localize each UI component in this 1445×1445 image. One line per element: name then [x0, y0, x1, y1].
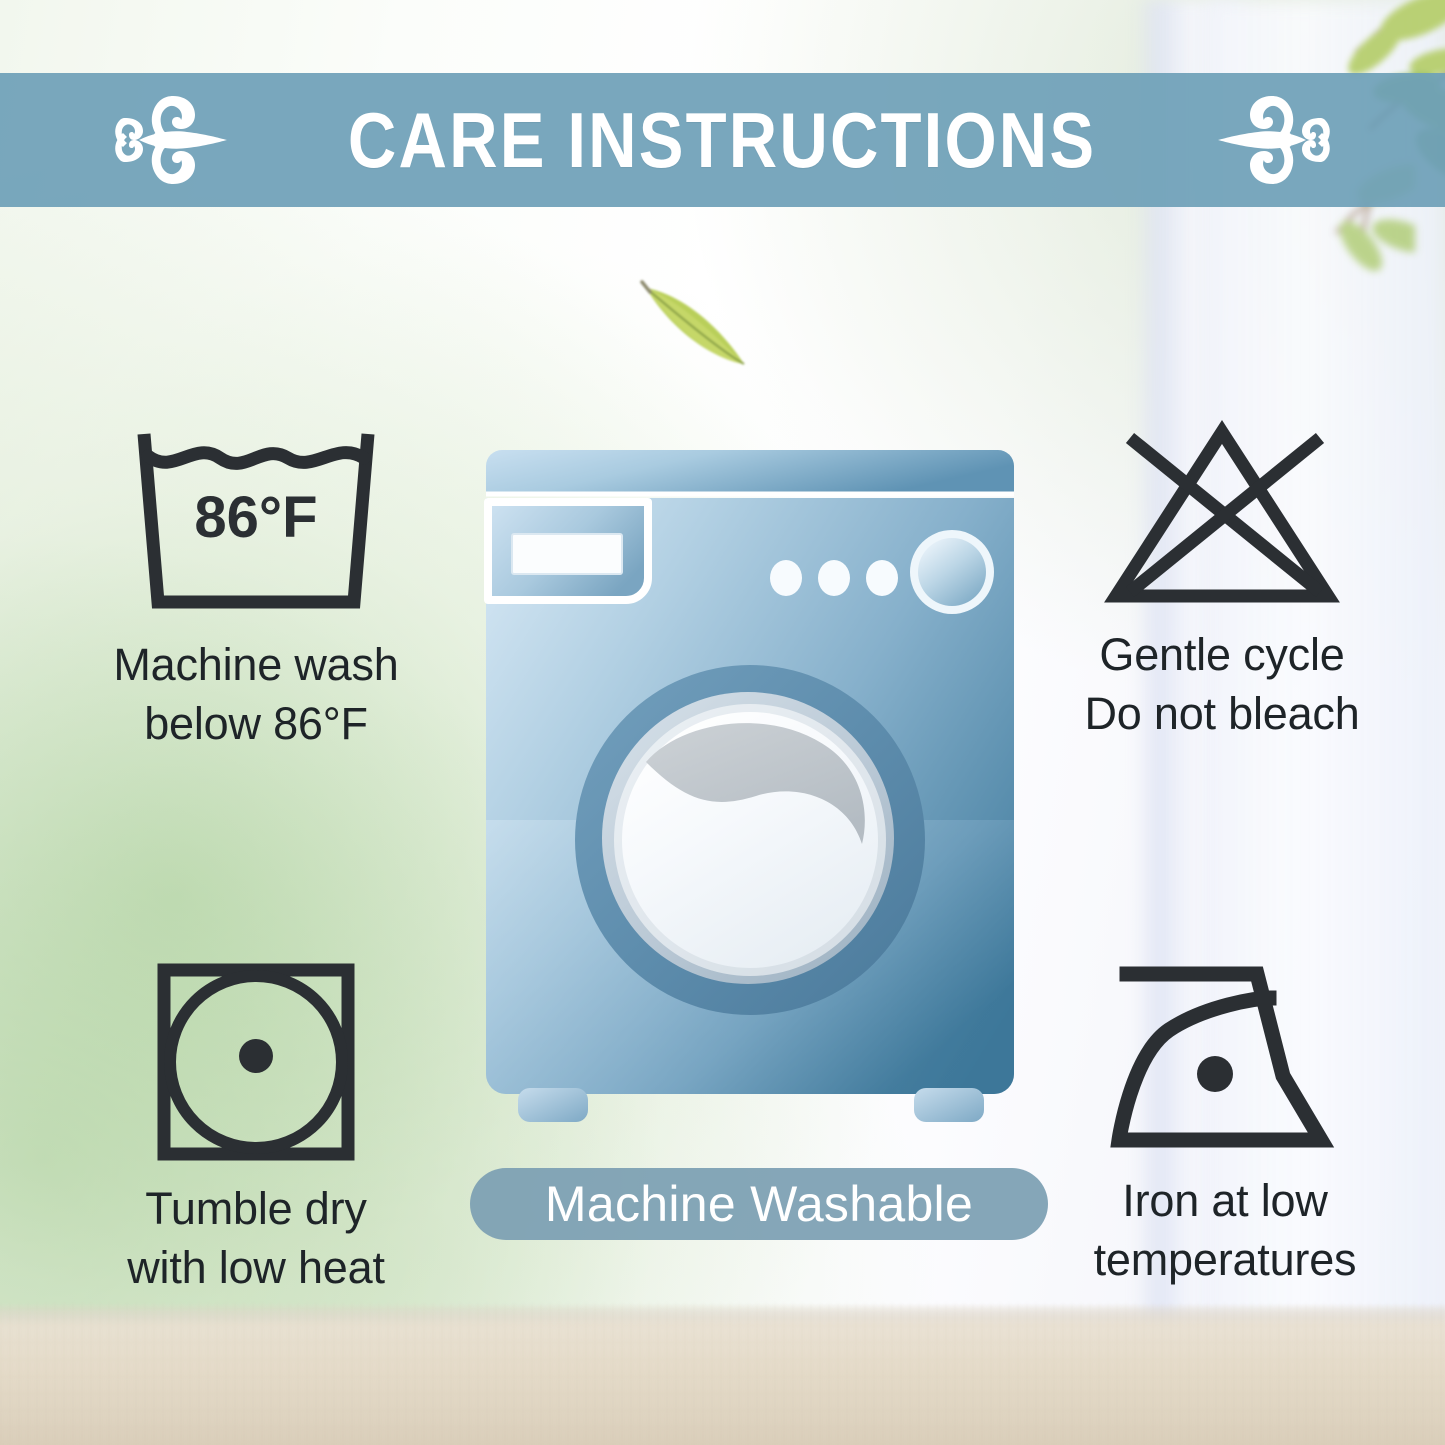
care-block-tumble-dry: Tumble dry with low heat — [56, 960, 456, 1297]
machine-washable-label: Machine Washable — [545, 1175, 973, 1233]
control-dot — [866, 560, 898, 596]
wash-temperature-label: 86°F — [194, 485, 317, 550]
machine-top-lid — [486, 450, 1014, 492]
control-knob — [918, 538, 986, 606]
caption-line-2: with low heat — [127, 1239, 385, 1298]
caption-line-2: below 86°F — [113, 695, 398, 754]
care-block-iron: Iron at low temperatures — [1020, 960, 1430, 1289]
header-banner: CARE INSTRUCTIONS — [0, 73, 1445, 207]
iron-low-temperature-icon — [1105, 960, 1345, 1156]
machine-foot — [518, 1088, 588, 1122]
control-dot — [770, 560, 802, 596]
caption-line-1: Tumble dry — [127, 1180, 385, 1239]
detergent-drawer-slot — [512, 534, 622, 574]
care-caption-iron: Iron at low temperatures — [1094, 1172, 1357, 1289]
caption-line-2: temperatures — [1094, 1231, 1357, 1290]
care-caption-do-not-bleach: Gentle cycle Do not bleach — [1084, 626, 1359, 743]
washing-machine-illustration — [470, 440, 1030, 1140]
care-block-machine-wash: 86°F Machine wash below 86°F — [46, 420, 466, 753]
care-block-do-not-bleach: Gentle cycle Do not bleach — [1012, 420, 1432, 743]
caption-line-1: Machine wash — [113, 636, 398, 695]
machine-foot — [914, 1088, 984, 1122]
tumble-dry-low-icon — [154, 960, 358, 1164]
care-instructions-poster: CARE INSTRUCTIONS 86°F Machine wash — [0, 0, 1445, 1445]
page-title: CARE INSTRUCTIONS — [348, 101, 1096, 179]
care-caption-machine-wash: Machine wash below 86°F — [113, 636, 398, 753]
floating-leaf-icon — [640, 272, 780, 372]
do-not-bleach-triangle-icon — [1096, 420, 1348, 610]
control-dot — [818, 560, 850, 596]
wood-grain-texture — [0, 1303, 1445, 1445]
machine-washable-badge: Machine Washable — [470, 1168, 1048, 1240]
caption-line-1: Iron at low — [1094, 1172, 1357, 1231]
fleur-de-lis-icon — [109, 88, 229, 192]
wash-tub-icon: 86°F — [132, 420, 380, 620]
fleur-de-lis-icon — [1216, 88, 1336, 192]
care-caption-tumble-dry: Tumble dry with low heat — [127, 1180, 385, 1297]
caption-line-2: Do not bleach — [1084, 685, 1359, 744]
caption-line-1: Gentle cycle — [1084, 626, 1359, 685]
